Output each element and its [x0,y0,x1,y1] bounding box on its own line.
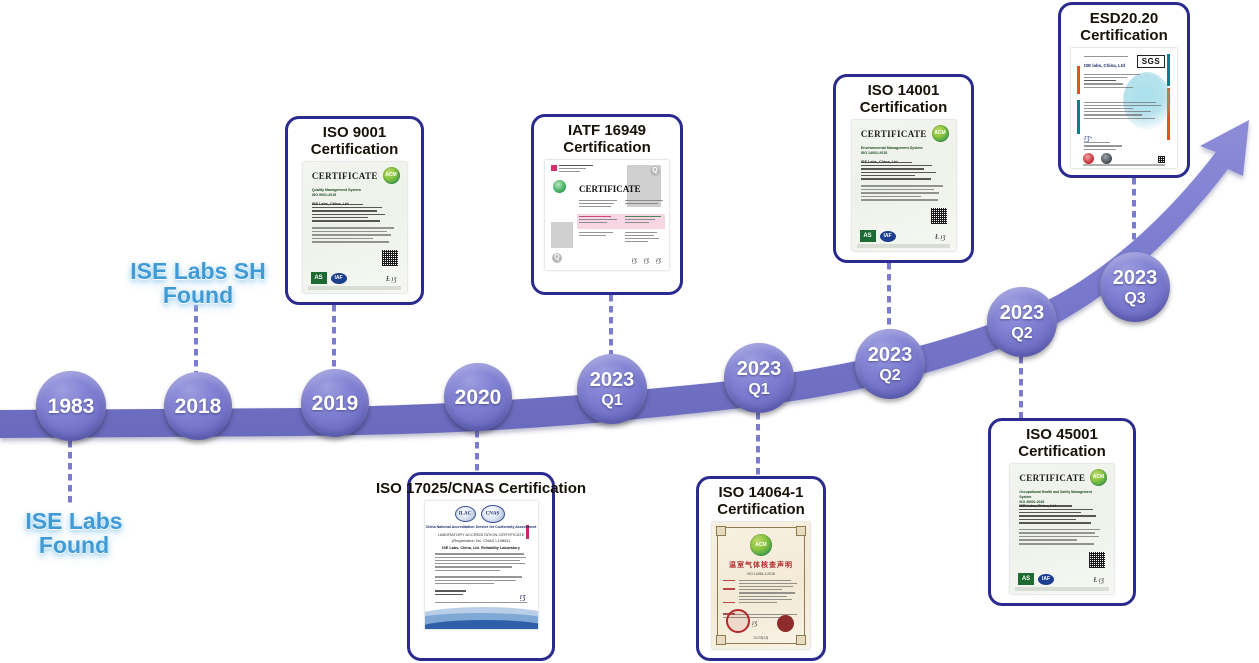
certificate-thumbnail-esd-20-20: SGS ISE labs, China, Ltd ᴉʒ‐ [1071,48,1177,168]
certificate-card-esd-20-20[interactable]: ESD20.20 Certification SGS ISE labs, Chi… [1058,2,1190,178]
left-block [551,222,573,248]
iaf-logo-icon: IAF [880,231,896,242]
signature: ᴉʒ [752,619,757,627]
timeline-node-2018[interactable]: 2018 [164,372,232,440]
wave-front [425,620,538,629]
connector-iso-14001 [887,263,891,330]
certificate-subtitle: Quality Management SystemISO 9001:2015 [312,188,385,199]
signature: Ɫ ᴉʒ [1094,576,1104,584]
ornament-corner-tl [716,526,726,536]
ornament-corner-tr [796,526,806,536]
timeline-node-2023-q2-b[interactable]: 2023 Q2 [987,287,1057,357]
certificate-card-iso-9001[interactable]: ISO 9001 Certification CERTIFICATE Quali… [285,116,424,305]
certificate-body-lines [861,185,946,203]
certificate-heading: CERTIFICATE [312,171,378,181]
node-quarter: Q1 [601,393,622,409]
ilac-mra-logo-icon: ILAC [455,506,476,522]
signature-1: ᴉʒ [632,256,637,264]
thumbnail-footer-bar [1083,164,1165,166]
node-quarter: Q1 [748,382,769,398]
label-ise-labs-sh-found: ISE Labs SH Found [113,259,283,308]
timeline-node-2020[interactable]: 2020 [444,363,512,431]
signature: Ɫ ᴉʒ [935,233,945,241]
right-teal-bar [1167,54,1170,86]
timeline-node-2023-q1-a[interactable]: 2023 Q1 [577,354,647,424]
cnas-logo-icon: CNAS [481,505,505,523]
certificate-body-lines [1084,74,1140,90]
node-year: 2023 [737,359,782,379]
certificate-card-iso-45001[interactable]: ISO 45001 Certification CERTIFICATE Occu… [988,418,1136,606]
certificate-subtitle: ISO 14064-1:2018 [712,572,810,576]
q-badge-icon: Q [650,166,660,176]
certificate-heading: 温室气体核查声明 [712,560,810,570]
connector-iso-45001 [1019,357,1023,418]
iaf-logo-icon: IAF [1038,574,1054,585]
node-quarter: Q2 [879,368,900,384]
connector-esd-20-20 [1132,178,1136,253]
label-ise-labs-found: ISE Labs Found [4,509,144,558]
timeline-node-2019[interactable]: 2019 [301,369,369,437]
timeline-node-2023-q3[interactable]: 2023 Q3 [1100,252,1170,322]
certificate-date-lines [435,590,480,597]
thumbnail-footer-bar [308,286,402,290]
node-year: 2020 [455,387,502,408]
wave-graphic [425,601,538,629]
node-year: 2023 [868,345,913,365]
certificate-card-iatf-16949[interactable]: IATF 16949 Certification Q CERTIFICATE [531,114,683,295]
red-seal-icon [777,615,794,632]
thumbnail-footer-bar [857,244,951,248]
node-quarter: Q2 [1011,326,1032,342]
connector-iso-17025-cnas [475,431,479,472]
left-teal-bar [1077,100,1080,134]
signature-2: ᴉʒ [644,256,649,264]
certificate-thumbnail-iso-14001: CERTIFICATE Environmental Management Sys… [852,120,956,251]
certificate-heading: CERTIFICATE [579,184,641,194]
qr-code-icon [931,208,947,224]
signature: Ɫ ᴉʒ [386,275,396,283]
accreditation-logos: AS IAF [860,230,896,242]
connector-iatf-16949 [609,295,613,355]
accreditation-logos: AS IAF [1018,573,1054,585]
iaf-logo-icon: IAF [331,273,347,284]
company-lines [579,216,619,226]
node-year: 2023 [590,370,635,390]
certificate-subtitle: LABORATORY ACCREDITATION CERTIFICATE(Reg… [425,532,538,544]
signature-3: ᴉʒ [656,256,661,264]
certificate-subtitle: Environmental Management SystemISO 14001… [861,146,938,157]
certificate-body-lines [739,580,799,606]
node-year: 2018 [175,396,222,417]
issue-date: 2023年3月 [712,635,810,640]
certificate-thumbnail-iatf-16949: Q CERTIFICATE [545,160,669,270]
signature: ᴉʒ‐ [1084,133,1092,142]
certificate-thumbnail-iso-14064-1: 温室气体核查声明 ISO 14064-1:2018 [712,522,810,649]
certificate-card-iso-17025-cnas[interactable]: ISO 17025/CNAS Certification ILAC CNAS C… [407,472,555,661]
certificate-company: ISE labs, China, Ltd [1084,63,1125,68]
certificate-card-iso-14001[interactable]: ISO 14001 Certification CERTIFICATE Envi… [833,74,974,263]
sgs-logo-icon: SGS [1137,55,1165,68]
certificate-detail-lines [312,204,397,224]
card-title: ISO 14001 Certification [860,83,948,117]
acm-logo-icon [932,125,949,142]
certificate-thumbnail-iso-45001: CERTIFICATE Occupational Health and Safe… [1010,464,1114,594]
as-logo-icon: AS [1018,573,1034,585]
certificate-heading: China National Accreditation Service for… [425,525,538,529]
certificate-note-lines [435,576,528,586]
node-year: 2023 [1000,303,1045,323]
certificate-detail-lines [1019,505,1104,525]
card-title: IATF 16949 Certification [563,123,651,157]
timeline-node-1983[interactable]: 1983 [36,371,106,441]
cnas-red-mark-icon [1083,153,1094,164]
acm-logo-icon [1090,469,1107,486]
qualitaustria-logo-icon [551,165,557,171]
left-accent-bar [1077,66,1080,94]
as-logo-icon: AS [311,272,327,284]
recycle-logo-icon [553,180,566,193]
certificate-detail-lines [861,162,946,182]
node-year: 2019 [312,393,359,414]
timeline-diagram: 1983 2018 2019 2020 2023 Q1 2023 Q1 2023… [0,0,1259,663]
certificate-body-lines [1019,529,1104,547]
card-title: ISO 14064-1 Certification [717,485,805,519]
certificate-heading: CERTIFICATE [1019,473,1085,483]
signature: ᴉʒ [520,592,526,601]
thumbnail-footer-bar [1015,587,1109,591]
accreditation-logos: AS IAF [311,272,347,284]
signatory-lines [1084,142,1128,151]
acm-logo-icon [750,534,772,556]
card-title: ISO 45001 Certification [1018,427,1106,461]
qr-code-icon [382,250,398,266]
connector-ise-labs-sh-found [194,305,198,372]
signatures: ᴉʒ ᴉʒ ᴉʒ [632,256,661,264]
intro-lines-right [625,200,663,206]
scope-lines [579,232,617,238]
issuer-lines [559,165,593,175]
accreditation-mark-icon [1101,153,1112,164]
timeline-node-2023-q2-a[interactable]: 2023 Q2 [855,329,925,399]
intro-lines-left [579,200,617,210]
certificate-thumbnail-iso-9001: CERTIFICATE Quality Management SystemISO… [303,162,407,293]
connector-ise-labs-found [68,441,72,507]
acm-logo-icon [383,167,400,184]
certificate-card-iso-14064-1[interactable]: ISO 14064-1 Certification 温室气体核查声明 ISO 1… [696,476,826,661]
card-title: ISO 9001 Certification [311,125,399,159]
qr-code-icon [1158,156,1165,163]
qr-code-icon [1089,552,1105,568]
as-logo-icon: AS [860,230,876,242]
scheme-lines [625,216,663,226]
q-badge-footer-icon: Q [552,253,562,263]
date-lines [625,232,663,245]
certificate-heading: CERTIFICATE [861,129,927,139]
connector-iso-9001 [332,305,336,369]
card-title: ISO 17025/CNAS Certification [376,481,586,498]
certificate-company: ISE Labs, China, Ltd. Reliability Labora… [425,546,538,550]
certificate-body-lines [435,553,528,573]
node-quarter: Q3 [1124,291,1145,307]
node-year: 1983 [48,396,95,417]
connector-iso-14064-1 [756,413,760,476]
card-title: ESD20.20 Certification [1080,11,1168,45]
official-seal-icon [726,609,750,633]
timeline-node-2023-q1-b[interactable]: 2023 Q1 [724,343,794,413]
certificate-thumbnail-iso-17025-cnas: ILAC CNAS China National Accreditation S… [425,501,538,629]
node-year: 2023 [1113,268,1158,288]
certificate-body-lines [312,227,397,245]
certificate-scope-lines [1084,102,1162,121]
certificate-number-line [1084,56,1128,59]
